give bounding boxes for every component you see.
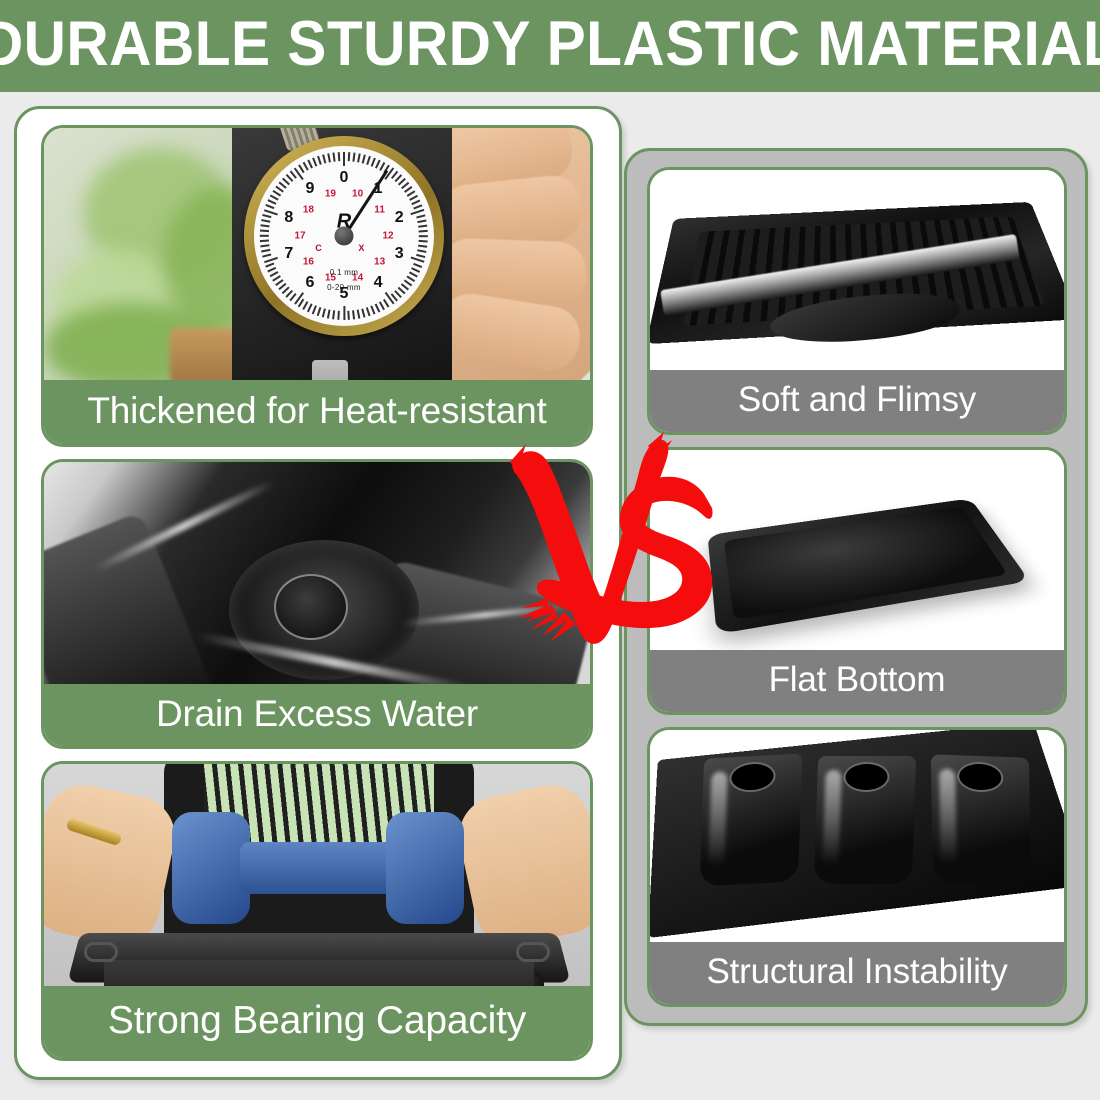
- dial-tick: [412, 267, 421, 272]
- dial-tick: [327, 153, 330, 162]
- dial-face: 0123456789 10111213141516171819 R C X 0.…: [254, 146, 434, 326]
- panel-structural-instability: Structural Instability: [647, 727, 1067, 1007]
- thickness-gauge-photo: 0123456789 10111213141516171819 R C X 0.…: [44, 128, 590, 380]
- panel-flat-bottom: Flat Bottom: [647, 447, 1067, 715]
- dial-tick: [362, 308, 366, 317]
- dial-outer-number: 3: [395, 245, 404, 263]
- panel-thickened-heat-resistant: 0123456789 10111213141516171819 R C X 0.…: [41, 125, 593, 447]
- tray-with-dumbbell-photo: [44, 764, 590, 986]
- dial-outer-number: 4: [374, 274, 383, 292]
- dial-tick: [333, 153, 336, 162]
- flat-tray: [707, 498, 1029, 634]
- dial-tick: [416, 254, 425, 258]
- caption-flat-bottom: Flat Bottom: [650, 650, 1064, 712]
- tray-rib: [44, 511, 216, 684]
- dial-tick: [333, 310, 336, 319]
- cell-gloss: [708, 771, 727, 868]
- dial-inner-number: 10: [352, 189, 363, 200]
- caption-structural-instability: Structural Instability: [650, 942, 1064, 1004]
- dial-gauge: 0123456789 10111213141516171819 R C X 0.…: [244, 136, 444, 336]
- dial-tick: [261, 245, 270, 248]
- dial-hub: [335, 227, 354, 246]
- page-title: DURABLE STURDY PLASTIC MATERIAL: [0, 13, 1100, 80]
- dial-tick: [261, 249, 270, 252]
- tray-handle: [516, 942, 550, 962]
- dial-tick: [413, 263, 422, 268]
- dial-outer-number: 0: [340, 169, 349, 187]
- dial-inner-number: 16: [303, 256, 314, 267]
- drain-hole-photo: [44, 462, 590, 684]
- dumbbell-end: [172, 812, 250, 924]
- dial-needle: [343, 170, 388, 237]
- dumbbell-bar: [240, 842, 400, 894]
- dial-inner-number: 17: [294, 231, 305, 242]
- cell-hole: [729, 761, 776, 793]
- dial-inner-number: 18: [303, 205, 314, 216]
- dial-tick: [322, 154, 326, 163]
- dial-tick: [353, 310, 356, 319]
- dial-tick: [419, 235, 428, 237]
- dial-tick: [262, 254, 271, 258]
- dial-tick: [343, 306, 345, 320]
- drain-hole: [274, 574, 348, 640]
- dial-tick: [312, 158, 317, 167]
- dial-tick: [264, 256, 278, 263]
- dial-outer-number: 6: [305, 274, 314, 292]
- collapsed-cell: [931, 754, 1031, 885]
- dial-tick: [303, 162, 309, 171]
- dial-inner-number: 13: [374, 256, 385, 267]
- panel-drain-excess-water: Drain Excess Water: [41, 459, 593, 749]
- dial-tick: [357, 153, 360, 162]
- dial-tick: [357, 310, 360, 319]
- dial-tick: [317, 307, 321, 316]
- dial-outer-number: 8: [284, 209, 293, 227]
- dial-resolution-label: 0.1 mm: [330, 268, 358, 277]
- tray-front-wall: [104, 960, 534, 986]
- gauge-stem: [312, 360, 348, 380]
- dial-tick: [338, 152, 340, 161]
- cell-hole: [957, 761, 1004, 793]
- flat-black-tray-photo: [650, 450, 1064, 650]
- person-arm-left: [44, 778, 182, 952]
- dial-tick: [371, 305, 376, 314]
- cell-hole: [843, 762, 890, 792]
- dial-tick: [418, 225, 427, 228]
- dial-tick: [312, 305, 317, 314]
- dial-tick: [362, 154, 366, 163]
- dial-tick: [348, 311, 350, 320]
- dial-right-mark: X: [358, 243, 364, 253]
- dial-tick: [317, 156, 321, 165]
- dial-tick: [348, 152, 350, 161]
- dumbbell-end: [386, 812, 464, 924]
- dial-tick: [366, 156, 370, 165]
- dial-tick: [261, 219, 270, 222]
- dial-tick: [266, 204, 275, 209]
- dial-outer-number: 2: [395, 209, 404, 227]
- dial-inner-number: 12: [382, 231, 393, 242]
- dial-tick: [260, 235, 269, 237]
- flimsy-black-tray-photo: [650, 170, 1064, 370]
- caption-drain-excess-water: Drain Excess Water: [44, 684, 590, 746]
- dial-tick: [407, 276, 415, 282]
- bad-product-column: Soft and Flimsy Flat Bottom: [624, 148, 1088, 1026]
- dial-tick: [353, 153, 356, 162]
- collapsed-cells-photo: [650, 730, 1064, 942]
- dial-tick: [338, 311, 340, 320]
- dial-inner-number: 11: [374, 205, 385, 216]
- collapsed-cell: [814, 756, 916, 884]
- dial-inner-number: 19: [325, 189, 336, 200]
- caption-strong-bearing-capacity: Strong Bearing Capacity: [44, 986, 590, 1058]
- dial-left-mark: C: [315, 243, 322, 253]
- dial-tick: [308, 160, 313, 169]
- good-product-column: 0123456789 10111213141516171819 R C X 0.…: [14, 106, 622, 1080]
- dial-tick: [260, 240, 269, 242]
- collapsed-cell: [700, 754, 803, 887]
- cell-gloss: [939, 769, 957, 865]
- dial-outer-number: 7: [284, 245, 293, 263]
- dial-range-label: 0-20 mm: [327, 283, 361, 292]
- dial-tick: [418, 245, 427, 248]
- dial-tick: [375, 304, 380, 313]
- dial-tick: [410, 256, 424, 263]
- caption-soft-and-flimsy: Soft and Flimsy: [650, 370, 1064, 432]
- dial-outer-number: 9: [305, 180, 314, 198]
- cell-gloss: [822, 770, 841, 866]
- tray-flat-floor: [724, 507, 1008, 620]
- dial-tick: [413, 204, 422, 209]
- dial-tick: [366, 307, 370, 316]
- dial-tick: [262, 214, 271, 218]
- dial-tick: [418, 219, 427, 222]
- dial-tick: [418, 249, 427, 252]
- header-banner: DURABLE STURDY PLASTIC MATERIAL: [0, 0, 1100, 92]
- dial-tick: [419, 230, 428, 232]
- panel-soft-and-flimsy: Soft and Flimsy: [647, 167, 1067, 435]
- dial-tick: [322, 308, 326, 317]
- caption-thickened-heat-resistant: Thickened for Heat-resistant: [44, 380, 590, 444]
- dial-tick: [260, 230, 269, 232]
- dial-tick: [343, 152, 345, 166]
- dial-tick: [261, 225, 270, 228]
- panel-strong-bearing-capacity: Strong Bearing Capacity: [41, 761, 593, 1061]
- dial-tick: [327, 310, 330, 319]
- dial-tick: [270, 195, 279, 201]
- dial-tick: [419, 240, 428, 242]
- tray-handle: [84, 942, 118, 962]
- dial-tick: [409, 271, 418, 277]
- dial-tick: [268, 200, 277, 205]
- dial-tick: [416, 214, 425, 218]
